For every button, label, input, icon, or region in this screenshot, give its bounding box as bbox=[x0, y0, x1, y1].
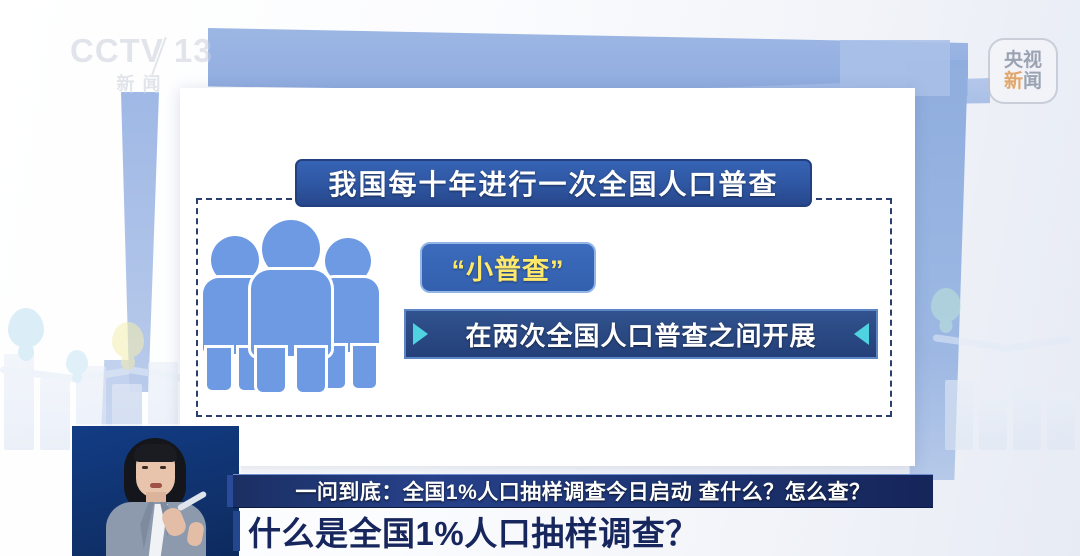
crowd-silhouette-strip bbox=[182, 419, 915, 467]
background-bar-chart-right bbox=[945, 300, 1080, 450]
right-arrow-icon bbox=[854, 323, 869, 345]
news-anchor-video bbox=[72, 426, 239, 556]
small-census-badge-text: “小普查” bbox=[452, 248, 565, 287]
cctv-news-corner-logo: 央视 新闻 bbox=[988, 38, 1058, 104]
cctv-13-logo: CCTV13 新闻 bbox=[70, 32, 215, 102]
ticker-text: 一问到底：全国1%人口抽样调查今日启动 查什么？怎么查？ bbox=[295, 476, 870, 506]
headline-text: 什么是全国1%人口抽样调查？ bbox=[248, 507, 699, 555]
main-banner-text: 我国每十年进行一次全国人口普查 bbox=[328, 163, 778, 203]
broadcast-frame: 我国每十年进行一次全国人口普查 “小普查” 在两次全国人口普查之间开展 一问到底… bbox=[0, 0, 1080, 556]
headline-bar: 什么是全国1%人口抽样调查？ bbox=[233, 508, 993, 554]
small-census-badge: “小普查” bbox=[420, 242, 596, 293]
left-arrow-icon bbox=[413, 323, 428, 345]
corner-logo-row1: 央视 bbox=[1004, 51, 1042, 70]
three-people-icon bbox=[203, 214, 383, 390]
headline-accent-bar bbox=[233, 511, 240, 551]
sub-banner-text: 在两次全国人口普查之间开展 bbox=[465, 316, 816, 353]
corner-logo-accent: 新 bbox=[1004, 71, 1023, 92]
cctv-logo-subtitle: 新闻 bbox=[70, 70, 215, 96]
cctv-logo-text: CCTV bbox=[70, 32, 164, 69]
corner-logo-rest: 闻 bbox=[1023, 71, 1042, 92]
main-banner: 我国每十年进行一次全国人口普查 bbox=[295, 159, 812, 207]
sub-banner: 在两次全国人口普查之间开展 bbox=[404, 309, 878, 359]
cctv-channel-number: 13 bbox=[174, 32, 213, 69]
ticker-bar: 一问到底：全国1%人口抽样调查今日启动 查什么？怎么查？ bbox=[233, 474, 933, 508]
